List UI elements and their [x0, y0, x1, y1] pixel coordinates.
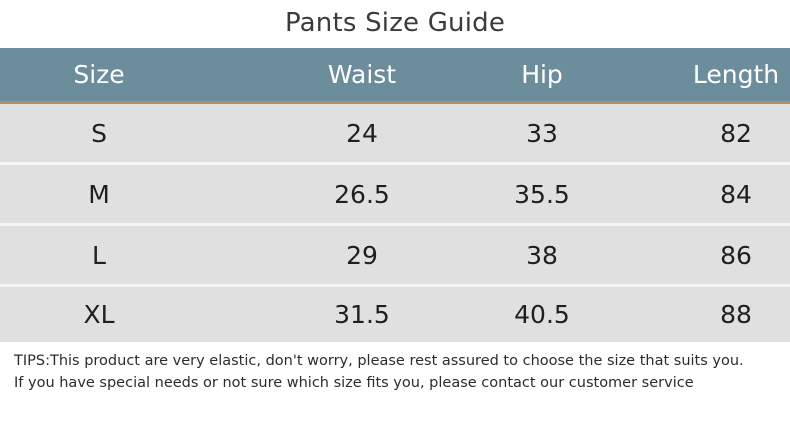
cell-size: M [0, 182, 198, 207]
table-row: S 24 33 82 [0, 104, 790, 165]
tips-line-2: If you have special needs or not sure wh… [14, 372, 776, 394]
cell-waist: 31.5 [308, 302, 416, 327]
cell-waist: 29 [308, 243, 416, 268]
table-row: L 29 38 86 [0, 226, 790, 287]
cell-length: 84 [682, 182, 790, 207]
cell-length: 82 [682, 121, 790, 146]
cell-hip: 35.5 [488, 182, 596, 207]
title-bar: Pants Size Guide [0, 0, 790, 48]
column-header-length: Length [682, 62, 790, 87]
column-header-hip: Hip [488, 62, 596, 87]
table-row: M 26.5 35.5 84 [0, 165, 790, 226]
cell-size: XL [0, 302, 198, 327]
column-header-size: Size [0, 62, 198, 87]
cell-hip: 38 [488, 243, 596, 268]
size-guide-card: Pants Size Guide Size Waist Hip Length S… [0, 0, 790, 424]
cell-length: 88 [682, 302, 790, 327]
cell-waist: 26.5 [308, 182, 416, 207]
page-title: Pants Size Guide [285, 10, 505, 38]
cell-waist: 24 [308, 121, 416, 146]
cell-hip: 33 [488, 121, 596, 146]
cell-hip: 40.5 [488, 302, 596, 327]
cell-length: 86 [682, 243, 790, 268]
table-header-row: Size Waist Hip Length [0, 48, 790, 104]
table-row: XL 31.5 40.5 88 [0, 287, 790, 342]
tips-section: TIPS:This product are very elastic, don'… [0, 342, 790, 417]
tips-line-1: TIPS:This product are very elastic, don'… [14, 350, 776, 372]
cell-size: L [0, 243, 198, 268]
column-header-waist: Waist [308, 62, 416, 87]
size-table: Size Waist Hip Length S 24 33 82 M 26.5 … [0, 48, 790, 342]
cell-size: S [0, 121, 198, 146]
